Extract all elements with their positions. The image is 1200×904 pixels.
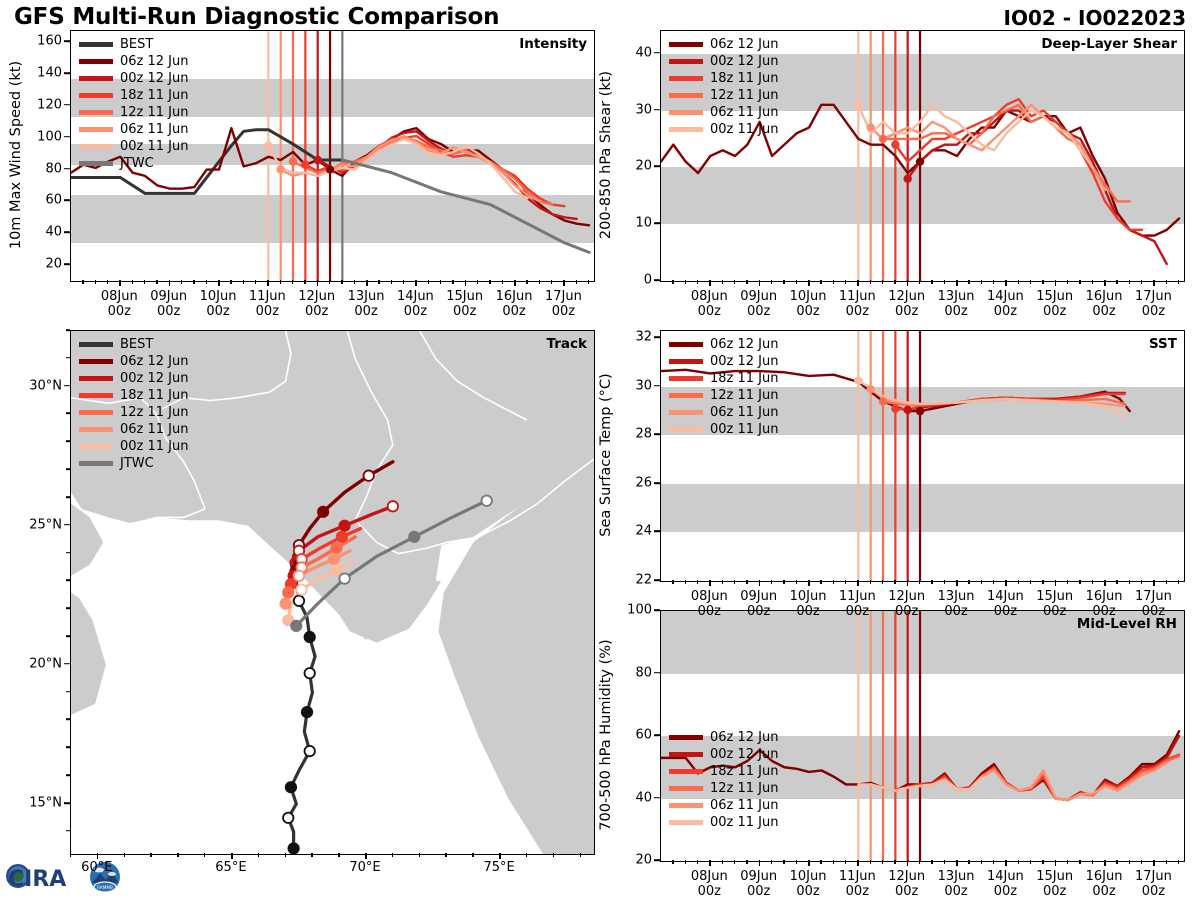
legend-label: 06z 11 Jun xyxy=(120,123,189,136)
lat-minor-tick xyxy=(66,746,70,748)
x-tick-mark xyxy=(857,580,859,586)
legend-label: 12z 11 Jun xyxy=(120,406,189,419)
x-minor-tick xyxy=(1042,580,1043,584)
x-minor-tick xyxy=(428,280,429,284)
legend-item: JTWC xyxy=(79,155,189,172)
x-minor-tick xyxy=(1079,280,1080,284)
legend-item: 12z 11 Jun xyxy=(79,404,189,421)
x-minor-tick xyxy=(107,280,108,284)
lon-minor-tick xyxy=(70,853,71,857)
y-tick-mark xyxy=(654,531,660,533)
panel-title: Track xyxy=(547,336,587,352)
legend-swatch xyxy=(669,769,703,774)
x-minor-tick xyxy=(82,280,83,284)
x-minor-tick xyxy=(722,280,723,284)
lon-tick-label: 65°E xyxy=(196,860,266,875)
x-minor-tick xyxy=(1067,280,1068,284)
init-marker xyxy=(326,165,334,173)
y-tick-mark xyxy=(64,231,70,233)
legend-swatch xyxy=(79,144,113,149)
x-minor-tick xyxy=(452,280,453,284)
legend-item: 00z 12 Jun xyxy=(669,746,779,763)
series-18z-11-jun xyxy=(895,99,1142,230)
x-minor-tick xyxy=(206,280,207,284)
x-minor-tick xyxy=(845,860,846,864)
lon-tick-label: 75°E xyxy=(464,860,534,875)
legend-item: 18z 11 Jun xyxy=(669,70,779,87)
x-minor-tick xyxy=(783,280,784,284)
x-minor-tick xyxy=(1141,580,1142,584)
legend-swatch xyxy=(669,393,703,398)
legend-label: 00z 12 Jun xyxy=(120,372,189,385)
legend-label: JTWC xyxy=(120,157,154,170)
x-minor-tick xyxy=(391,280,392,284)
init-marker xyxy=(879,397,887,405)
legend-item: 06z 11 Jun xyxy=(669,104,779,121)
x-minor-tick xyxy=(796,580,797,584)
y-tick-label: 20 xyxy=(602,853,652,868)
track-day-marker xyxy=(331,565,341,575)
y-axis-title: 700-500 hPa Humidity (%) xyxy=(598,639,614,830)
y-tick-mark xyxy=(654,336,660,338)
x-minor-tick xyxy=(551,280,552,284)
x-tick-label: 17Jun00z xyxy=(1118,589,1188,619)
legend-item: 18z 11 Jun xyxy=(79,87,189,104)
x-minor-tick xyxy=(1042,280,1043,284)
legend-label: 00z 12 Jun xyxy=(120,72,189,85)
legend-label: 06z 12 Jun xyxy=(120,355,189,368)
y-tick-mark xyxy=(64,263,70,265)
x-minor-tick xyxy=(1116,860,1117,864)
lat-minor-tick xyxy=(66,607,70,609)
x-minor-tick xyxy=(993,580,994,584)
x-tick-mark xyxy=(857,860,859,866)
y-tick-label: 160 xyxy=(12,34,62,49)
lat-minor-tick xyxy=(66,468,70,470)
legend-swatch xyxy=(79,59,113,64)
y-tick-mark xyxy=(654,279,660,281)
x-tick-mark xyxy=(1005,280,1007,286)
x-minor-tick xyxy=(354,280,355,284)
x-minor-tick xyxy=(796,860,797,864)
x-tick-mark xyxy=(709,280,711,286)
legend-item: 18z 11 Jun xyxy=(669,763,779,780)
lon-minor-tick xyxy=(419,853,420,857)
x-minor-tick xyxy=(820,280,821,284)
legend-item: 00z 11 Jun xyxy=(669,814,779,831)
legend-item: 00z 11 Jun xyxy=(669,421,779,438)
x-minor-tick xyxy=(870,860,871,864)
x-minor-tick xyxy=(489,280,490,284)
x-minor-tick xyxy=(894,860,895,864)
x-minor-tick xyxy=(1079,860,1080,864)
x-minor-tick xyxy=(144,280,145,284)
legend-item: 06z 11 Jun xyxy=(669,404,779,421)
legend-item: BEST xyxy=(79,36,189,53)
init-marker xyxy=(891,404,899,412)
legend-label: 12z 11 Jun xyxy=(710,782,779,795)
legend-swatch xyxy=(669,59,703,64)
legend-swatch xyxy=(79,127,113,132)
x-minor-tick xyxy=(833,280,834,284)
init-marker xyxy=(866,123,874,131)
x-minor-tick xyxy=(539,280,540,284)
x-minor-tick xyxy=(1067,580,1068,584)
legend-swatch xyxy=(669,786,703,791)
lon-tick-label: 70°E xyxy=(330,860,400,875)
intensity-panel: IntensityBEST06z 12 Jun00z 12 Jun18z 11 … xyxy=(70,30,595,282)
x-tick-mark xyxy=(169,280,171,286)
x-minor-tick xyxy=(1166,860,1167,864)
lon-minor-tick xyxy=(580,853,581,857)
x-minor-tick xyxy=(255,280,256,284)
track-day-marker xyxy=(280,598,290,608)
x-minor-tick xyxy=(882,860,883,864)
x-tick-mark xyxy=(317,280,319,286)
x-minor-tick xyxy=(1166,280,1167,284)
x-tick-mark xyxy=(1055,860,1057,866)
lon-minor-tick xyxy=(526,853,527,857)
lat-tick-mark xyxy=(64,802,70,804)
lat-minor-tick xyxy=(66,830,70,832)
x-minor-tick xyxy=(672,860,673,864)
track-day-marker xyxy=(294,571,304,581)
x-minor-tick xyxy=(981,860,982,864)
x-tick-mark xyxy=(218,280,220,286)
x-minor-tick xyxy=(477,280,478,284)
legend-swatch xyxy=(669,127,703,132)
legend-swatch xyxy=(79,161,113,166)
legend-swatch xyxy=(669,110,703,115)
legend-label: 12z 11 Jun xyxy=(710,89,779,102)
legend-swatch xyxy=(669,42,703,47)
init-marker xyxy=(854,377,862,385)
track-day-marker xyxy=(283,587,293,597)
legend-swatch xyxy=(79,461,113,466)
x-minor-tick xyxy=(292,280,293,284)
x-minor-tick xyxy=(95,280,96,284)
shear-panel: Deep-Layer Shear06z 12 Jun00z 12 Jun18z … xyxy=(660,30,1185,282)
lon-tick-mark xyxy=(97,853,99,859)
x-minor-tick xyxy=(931,580,932,584)
x-minor-tick xyxy=(968,280,969,284)
x-minor-tick xyxy=(1141,280,1142,284)
legend-swatch xyxy=(79,393,113,398)
legend-swatch xyxy=(79,359,113,364)
lat-minor-tick xyxy=(66,774,70,776)
legend-swatch xyxy=(669,803,703,808)
init-marker xyxy=(903,175,911,183)
y-tick-label: 40 xyxy=(602,45,652,60)
legend-label: 00z 12 Jun xyxy=(710,355,779,368)
x-minor-tick xyxy=(931,860,932,864)
lon-minor-tick xyxy=(204,853,205,857)
lon-tick-mark xyxy=(499,853,501,859)
lon-minor-tick xyxy=(472,853,473,857)
track-day-marker xyxy=(288,843,298,853)
lat-minor-tick xyxy=(66,552,70,554)
track-day-marker xyxy=(409,532,419,542)
legend-label: 00z 11 Jun xyxy=(120,440,189,453)
lon-minor-tick xyxy=(338,853,339,857)
y-tick-label: 100 xyxy=(602,603,652,618)
x-minor-tick xyxy=(796,280,797,284)
y-tick-mark xyxy=(654,222,660,224)
legend-label: 18z 11 Jun xyxy=(120,89,189,102)
lon-minor-tick xyxy=(177,853,178,857)
init-marker xyxy=(276,165,284,173)
x-tick-mark xyxy=(1104,860,1106,866)
x-minor-tick xyxy=(576,280,577,284)
x-minor-tick xyxy=(833,860,834,864)
x-minor-tick xyxy=(931,280,932,284)
x-minor-tick xyxy=(588,280,589,284)
panel-legend: BEST06z 12 Jun00z 12 Jun18z 11 Jun12z 11… xyxy=(79,36,189,172)
legend-swatch xyxy=(669,76,703,81)
legend-label: 00z 12 Jun xyxy=(710,55,779,68)
lat-minor-tick xyxy=(66,691,70,693)
page-title: GFS Multi-Run Diagnostic Comparison xyxy=(14,4,499,30)
x-minor-tick xyxy=(771,280,772,284)
x-minor-tick xyxy=(968,580,969,584)
x-minor-tick xyxy=(771,580,772,584)
x-tick-mark xyxy=(808,860,810,866)
legend-swatch xyxy=(79,444,113,449)
x-minor-tick xyxy=(341,280,342,284)
legend-item: 00z 12 Jun xyxy=(669,353,779,370)
x-tick-mark xyxy=(119,280,121,286)
x-minor-tick xyxy=(734,580,735,584)
legend-swatch xyxy=(79,376,113,381)
x-minor-tick xyxy=(919,580,920,584)
x-tick-mark xyxy=(759,860,761,866)
panel-title: Deep-Layer Shear xyxy=(1041,36,1177,52)
track-day-marker xyxy=(364,470,374,480)
x-minor-tick xyxy=(697,860,698,864)
x-minor-tick xyxy=(944,860,945,864)
y-tick-mark xyxy=(654,579,660,581)
lon-tick-mark xyxy=(231,853,233,859)
lat-minor-tick xyxy=(66,357,70,359)
x-minor-tick xyxy=(820,580,821,584)
x-minor-tick xyxy=(1141,860,1142,864)
x-tick-mark xyxy=(1153,580,1155,586)
legend-item: 00z 11 Jun xyxy=(669,121,779,138)
legend-label: 00z 12 Jun xyxy=(710,748,779,761)
legend-item: 12z 11 Jun xyxy=(669,387,779,404)
x-minor-tick xyxy=(783,580,784,584)
x-minor-tick xyxy=(993,280,994,284)
lon-minor-tick xyxy=(392,853,393,857)
init-marker xyxy=(264,141,272,149)
x-minor-tick xyxy=(526,280,527,284)
y-tick-mark xyxy=(654,797,660,799)
y-tick-label: 32 xyxy=(602,330,652,345)
x-minor-tick xyxy=(378,280,379,284)
lat-minor-tick xyxy=(66,496,70,498)
x-minor-tick xyxy=(870,280,871,284)
track-day-marker xyxy=(283,813,293,823)
legend-item: 06z 12 Jun xyxy=(669,336,779,353)
legend-label: 18z 11 Jun xyxy=(120,389,189,402)
y-tick-mark xyxy=(64,72,70,74)
lon-minor-tick xyxy=(285,853,286,857)
x-minor-tick xyxy=(894,580,895,584)
panel-title: Mid-Level RH xyxy=(1077,616,1177,632)
sst-panel: SST06z 12 Jun00z 12 Jun18z 11 Jun12z 11 … xyxy=(660,330,1185,582)
legend-label: 06z 11 Jun xyxy=(120,423,189,436)
x-tick-mark xyxy=(1153,280,1155,286)
lat-minor-tick xyxy=(66,413,70,415)
x-minor-tick xyxy=(1018,860,1019,864)
init-marker xyxy=(313,156,321,164)
panel-legend: 06z 12 Jun00z 12 Jun18z 11 Jun12z 11 Jun… xyxy=(669,36,779,138)
x-tick-mark xyxy=(907,580,909,586)
x-minor-tick xyxy=(722,860,723,864)
lat-tick-label: 20°N xyxy=(8,656,62,671)
y-tick-mark xyxy=(64,104,70,106)
x-minor-tick xyxy=(734,860,735,864)
legend-label: 06z 11 Jun xyxy=(710,799,779,812)
x-minor-tick xyxy=(981,280,982,284)
legend-swatch xyxy=(669,93,703,98)
legend-swatch xyxy=(669,342,703,347)
legend-label: 18z 11 Jun xyxy=(710,72,779,85)
y-tick-mark xyxy=(654,52,660,54)
x-minor-tick xyxy=(697,580,698,584)
x-minor-tick xyxy=(833,580,834,584)
x-minor-tick xyxy=(1079,580,1080,584)
x-minor-tick xyxy=(722,580,723,584)
legend-item: 00z 11 Jun xyxy=(79,438,189,455)
x-tick-mark xyxy=(1104,580,1106,586)
x-minor-tick xyxy=(329,280,330,284)
x-tick-mark xyxy=(1005,580,1007,586)
x-minor-tick xyxy=(1166,580,1167,584)
legend-label: 06z 11 Jun xyxy=(710,406,779,419)
init-marker xyxy=(866,385,874,393)
legend-item: 00z 11 Jun xyxy=(79,138,189,155)
x-minor-tick xyxy=(697,280,698,284)
legend-swatch xyxy=(669,359,703,364)
x-minor-tick xyxy=(746,280,747,284)
legend-swatch xyxy=(669,427,703,432)
x-tick-mark xyxy=(267,280,269,286)
x-minor-tick xyxy=(1092,860,1093,864)
track-day-marker xyxy=(329,554,339,564)
init-marker xyxy=(916,407,924,415)
legend-label: 00z 11 Jun xyxy=(710,816,779,829)
x-tick-mark xyxy=(415,280,417,286)
track-day-marker xyxy=(296,585,306,595)
track-day-marker xyxy=(388,501,398,511)
legend-item: 18z 11 Jun xyxy=(79,387,189,404)
lat-tick-label: 15°N xyxy=(8,795,62,810)
legend-label: 00z 11 Jun xyxy=(710,423,779,436)
x-minor-tick xyxy=(156,280,157,284)
x-minor-tick xyxy=(1116,580,1117,584)
y-tick-mark xyxy=(654,859,660,861)
track-day-marker xyxy=(339,573,349,583)
track-day-marker xyxy=(339,521,349,531)
track-day-marker xyxy=(302,707,312,717)
legend-item: JTWC xyxy=(79,455,189,472)
legend-item: 06z 11 Jun xyxy=(669,797,779,814)
x-minor-tick xyxy=(944,580,945,584)
legend-item: 06z 11 Jun xyxy=(79,121,189,138)
legend-label: 18z 11 Jun xyxy=(710,765,779,778)
y-tick-mark xyxy=(654,734,660,736)
legend-label: 06z 12 Jun xyxy=(120,55,189,68)
legend-item: 00z 12 Jun xyxy=(79,70,189,87)
y-axis-title: 200-850 hPa Shear (kt) xyxy=(598,71,614,239)
panel-legend: 06z 12 Jun00z 12 Jun18z 11 Jun12z 11 Jun… xyxy=(669,729,779,831)
svg-text:CIRA: CIRA xyxy=(8,867,66,892)
track-day-marker xyxy=(305,746,315,756)
lon-minor-tick xyxy=(258,853,259,857)
x-minor-tick xyxy=(968,860,969,864)
x-minor-tick xyxy=(304,280,305,284)
x-minor-tick xyxy=(1030,280,1031,284)
legend-swatch xyxy=(669,820,703,825)
legend-label: 00z 11 Jun xyxy=(120,140,189,153)
x-minor-tick xyxy=(919,860,920,864)
x-tick-label: 17Jun00z xyxy=(528,289,598,319)
x-minor-tick xyxy=(1129,580,1130,584)
legend-item: 12z 11 Jun xyxy=(669,780,779,797)
x-minor-tick xyxy=(882,280,883,284)
x-minor-tick xyxy=(771,860,772,864)
x-tick-mark xyxy=(1104,280,1106,286)
x-minor-tick xyxy=(746,860,747,864)
series-00z-11-jun xyxy=(858,105,1092,168)
x-minor-tick xyxy=(280,280,281,284)
legend-item: 06z 12 Jun xyxy=(669,36,779,53)
x-minor-tick xyxy=(1042,860,1043,864)
track-day-marker xyxy=(305,668,315,678)
legend-swatch xyxy=(79,42,113,47)
legend-label: BEST xyxy=(120,38,153,51)
legend-swatch xyxy=(79,76,113,81)
legend-item: BEST xyxy=(79,336,189,353)
track-panel: TrackBEST06z 12 Jun00z 12 Jun18z 11 Jun1… xyxy=(70,330,595,855)
track-day-marker xyxy=(482,495,492,505)
x-tick-mark xyxy=(907,280,909,286)
y-tick-mark xyxy=(654,609,660,611)
legend-label: JTWC xyxy=(120,457,154,470)
series-12z-11-jun xyxy=(883,756,1179,800)
x-minor-tick xyxy=(1129,280,1130,284)
x-minor-tick xyxy=(403,280,404,284)
x-minor-tick xyxy=(845,580,846,584)
y-tick-mark xyxy=(654,434,660,436)
track-day-marker xyxy=(337,532,347,542)
x-tick-mark xyxy=(759,580,761,586)
x-minor-tick xyxy=(672,280,673,284)
storm-identifier: IO02 - IO022023 xyxy=(1004,6,1186,30)
x-minor-tick xyxy=(1129,860,1130,864)
legend-item: 00z 12 Jun xyxy=(669,53,779,70)
x-minor-tick xyxy=(1092,580,1093,584)
y-tick-mark xyxy=(64,200,70,202)
track-day-marker xyxy=(318,507,328,517)
svg-text:RAMMB: RAMMB xyxy=(97,885,113,890)
x-tick-mark xyxy=(563,280,565,286)
legend-item: 06z 12 Jun xyxy=(669,729,779,746)
legend-label: 06z 12 Jun xyxy=(710,338,779,351)
legend-label: 12z 11 Jun xyxy=(120,106,189,119)
track-day-marker xyxy=(286,782,296,792)
